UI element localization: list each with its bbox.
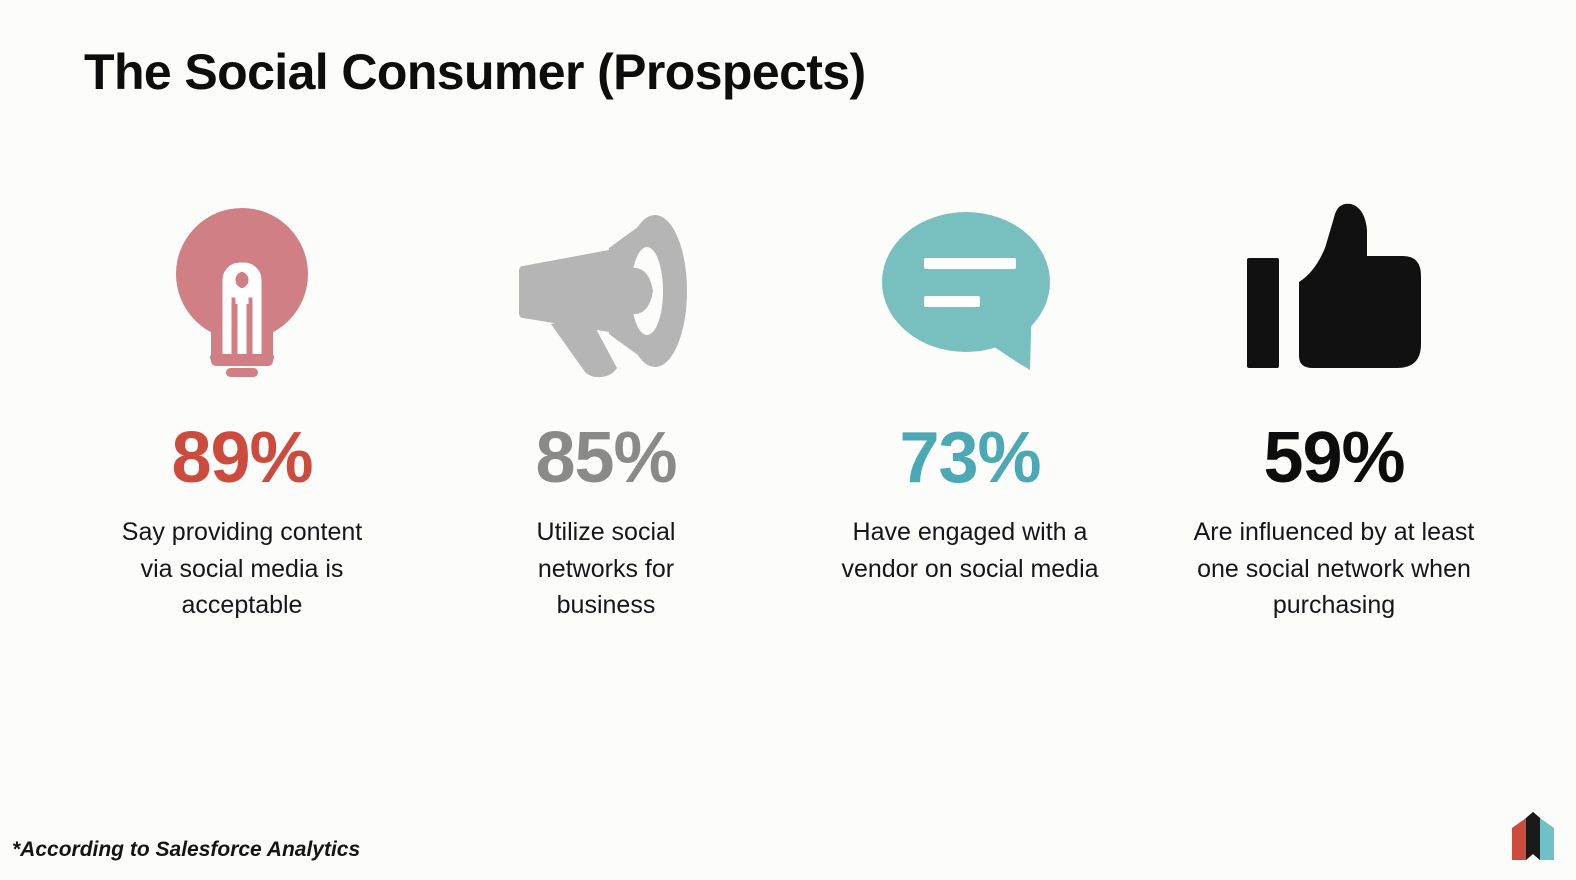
lightbulb-icon [171,196,313,382]
stat-caption-utilize-social-networks: Utilize social networks for business [508,514,704,624]
stat-card-content-via-social-media: 89% Say providing content via social med… [60,196,424,624]
brand-logo-icon [1504,812,1562,866]
infographic-slide: The Social Consumer (Prospects) [0,0,1576,880]
lightbulb-icon-wrap [171,196,313,382]
stat-card-engaged-with-vendor: 73% Have engaged with a vendor on social… [788,196,1152,587]
stat-value-89: 89% [171,422,312,494]
source-footnote: *According to Salesforce Analytics [12,838,360,862]
speech-bubble-icon [880,196,1060,382]
stat-card-influenced-when-purchasing: 59% Are influenced by at least one socia… [1152,196,1516,624]
page-title: The Social Consumer (Prospects) [84,44,866,102]
stat-caption-content-via-social-media: Say providing content via social media i… [103,514,381,624]
stat-value-59: 59% [1263,422,1404,494]
thumbs-up-icon [1241,196,1427,382]
stat-value-73: 73% [899,422,1040,494]
stats-row: 89% Say providing content via social med… [60,196,1516,624]
stat-caption-influenced-when-purchasing: Are influenced by at least one social ne… [1189,514,1479,624]
megaphone-icon [513,196,699,382]
thumbs-up-icon-wrap [1241,196,1427,382]
stat-caption-engaged-with-vendor: Have engaged with a vendor on social med… [829,514,1111,587]
stat-card-utilize-social-networks: 85% Utilize social networks for business [424,196,788,624]
stat-value-85: 85% [535,422,676,494]
speech-bubble-icon-wrap [880,196,1060,382]
megaphone-icon-wrap [513,196,699,382]
